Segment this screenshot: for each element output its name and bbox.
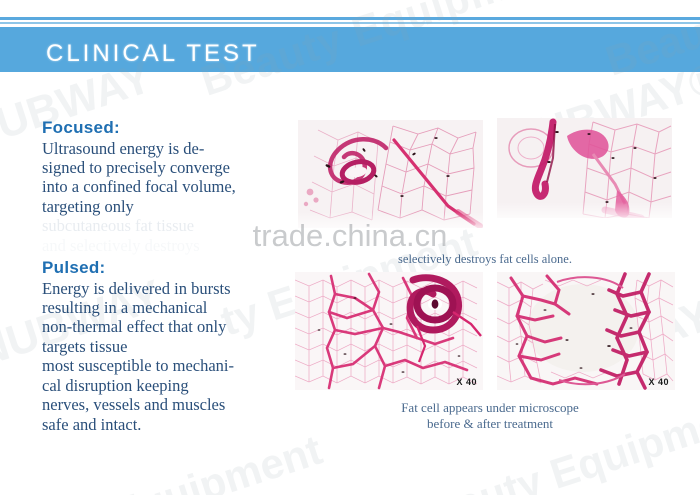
page-title: CLINICAL TEST — [46, 40, 260, 68]
pulsed-line: nerves, vessels and muscles — [42, 395, 292, 414]
focused-body: Ultrasound energy is de- signed to preci… — [42, 139, 282, 256]
image-fade — [497, 202, 672, 218]
micrograph-bottom-left: X 40 — [295, 272, 483, 390]
focused-line-faded: and selectively destroys — [42, 236, 282, 255]
magnification-label: X 40 — [456, 377, 477, 387]
watermark-tile: ty Equipment — [60, 426, 328, 495]
micrograph-bottom-right: X 40 — [497, 272, 675, 390]
slide-page: NUBWAY Beauty Equipment NUBWAY®|Be NUBWA… — [0, 0, 700, 495]
micrograph-top-right — [497, 118, 672, 218]
pulsed-body: Energy is delivered in bursts resulting … — [42, 279, 292, 435]
micrograph-top-left — [298, 120, 483, 228]
pulsed-line: most susceptible to mechani- — [42, 356, 292, 375]
focused-heading: Focused: — [42, 118, 282, 138]
focused-line: into a confined focal volume, — [42, 177, 282, 196]
pulsed-line: safe and intact. — [42, 415, 292, 434]
magnification-label: X 40 — [648, 377, 669, 387]
middle-caption: selectively destroys fat cells alone. — [300, 252, 670, 267]
pulsed-line: resulting in a mechanical — [42, 298, 292, 317]
pulsed-line: targets tissue — [42, 337, 292, 356]
bottom-caption: Fat cell appears under microscope before… — [300, 400, 680, 433]
image-fade — [298, 212, 483, 228]
bottom-caption-line-2: before & after treatment — [300, 416, 680, 432]
header-rule-thin — [0, 22, 700, 24]
pulsed-block: Pulsed: Energy is delivered in bursts re… — [42, 258, 292, 434]
bottom-caption-line-1: Fat cell appears under microscope — [300, 400, 680, 416]
focused-line: signed to precisely converge — [42, 158, 282, 177]
focused-block: Focused: Ultrasound energy is de- signed… — [42, 118, 282, 255]
micrograph-bottom-left-image — [295, 272, 483, 390]
focused-line: Ultrasound energy is de- — [42, 139, 282, 158]
pulsed-line: cal disruption keeping — [42, 376, 292, 395]
pulsed-line: Energy is delivered in bursts — [42, 279, 292, 298]
focused-line: targeting only — [42, 197, 282, 216]
pulsed-line: non-thermal effect that only — [42, 317, 292, 336]
focused-line-faded: subcutaneous fat tissue — [42, 216, 282, 235]
micrograph-bottom-right-image — [497, 272, 675, 390]
pulsed-heading: Pulsed: — [42, 258, 292, 278]
header-rule-top — [0, 17, 700, 20]
